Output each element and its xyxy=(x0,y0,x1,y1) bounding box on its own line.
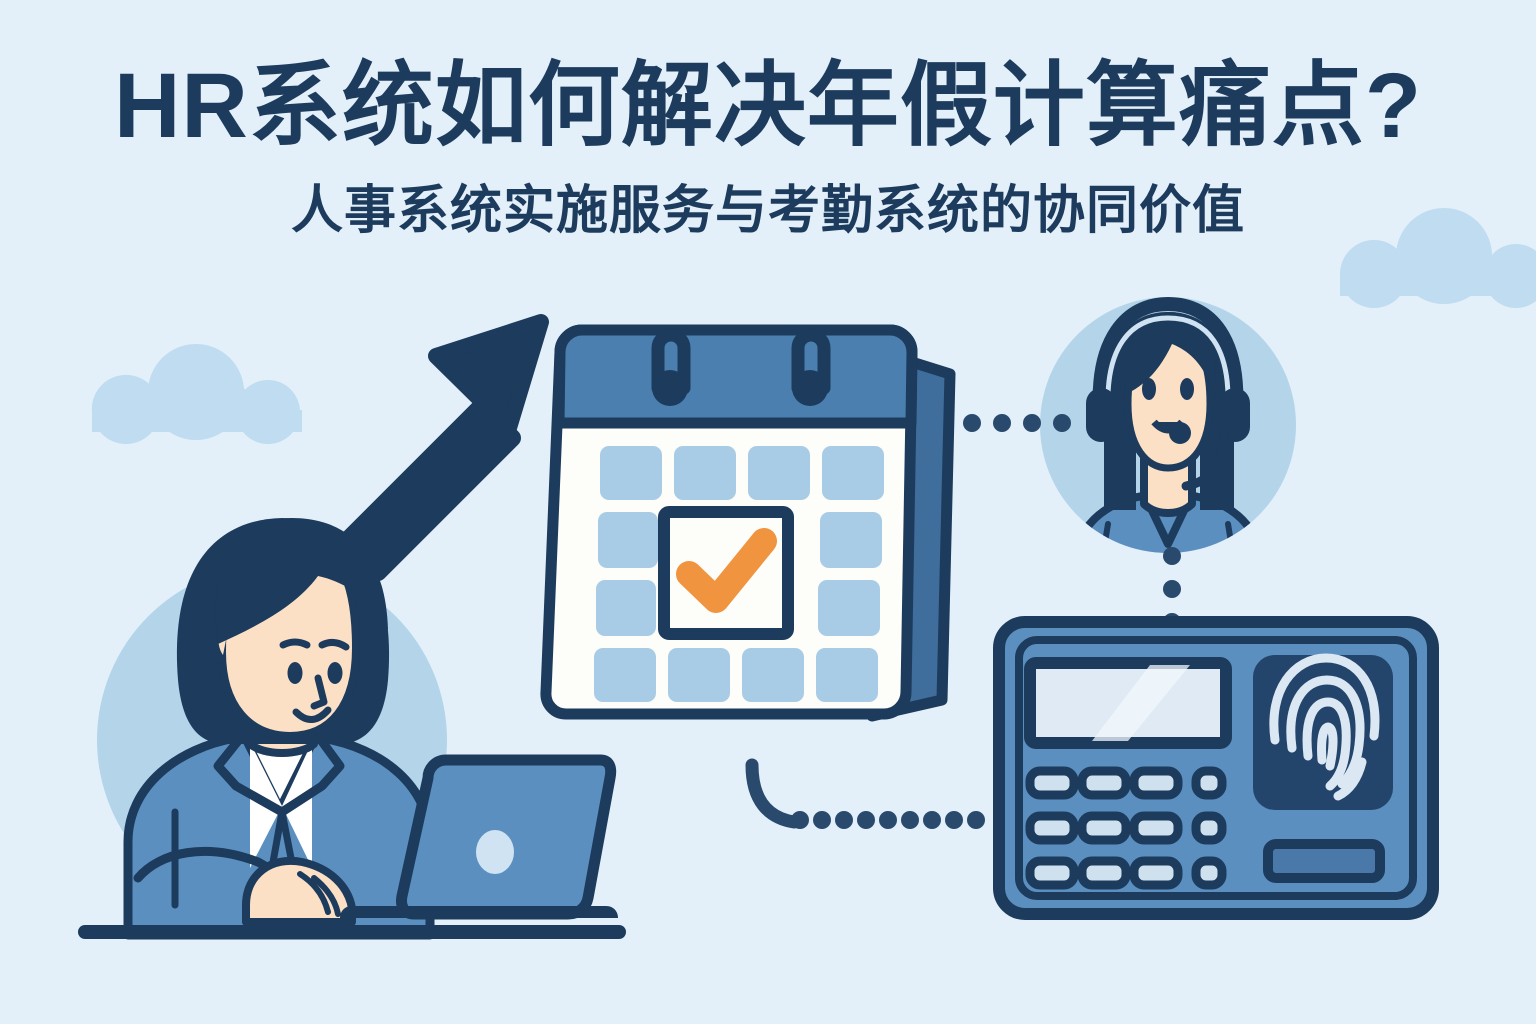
headset-earcup-left-icon xyxy=(1086,388,1116,442)
calendar-cell xyxy=(594,648,656,702)
keypad-key xyxy=(1030,861,1074,885)
laptop-logo xyxy=(476,830,514,874)
worker-brow-left xyxy=(283,642,307,645)
terminal-card-slot xyxy=(1268,844,1380,878)
calendar-cell xyxy=(600,446,662,500)
headset-mic-tip-icon xyxy=(1169,422,1191,444)
attendance-clock-terminal xyxy=(999,622,1433,914)
calendar-cell xyxy=(598,512,658,568)
annual-leave-calendar xyxy=(546,330,950,716)
keypad-key xyxy=(1030,771,1074,795)
keypad-key xyxy=(1196,771,1222,795)
calendar-cell xyxy=(674,446,736,500)
keypad-key xyxy=(1134,861,1178,885)
calendar-cell xyxy=(816,648,878,702)
terminal-keypad xyxy=(1030,771,1222,885)
calendar-cell xyxy=(820,512,882,568)
calendar-cell xyxy=(742,648,804,702)
laptop-base xyxy=(340,906,618,918)
calendar-cell xyxy=(668,648,730,702)
worker-eye-left xyxy=(288,662,303,684)
keypad-key xyxy=(1134,816,1178,840)
desk-line xyxy=(78,925,626,939)
agent-eye-right xyxy=(1180,378,1194,400)
worker-eye-right xyxy=(328,662,343,684)
keypad-key xyxy=(1030,816,1074,840)
page-subtitle: 人事系统实施服务与考勤系统的协同价值 xyxy=(0,185,1536,237)
page-subtitle-wrap: 人事系统实施服务与考勤系统的协同价值 xyxy=(0,185,1536,237)
keypad-key xyxy=(1082,861,1126,885)
calendar-cell xyxy=(596,580,656,636)
keypad-key xyxy=(1196,816,1222,840)
keypad-key xyxy=(1196,861,1222,885)
calendar-cell xyxy=(822,446,884,500)
agent-eye-left xyxy=(1142,378,1156,400)
page-title: HR系统如何解决年假计算痛点? xyxy=(0,60,1536,152)
illustration-canvas: HR系统如何解决年假计算痛点? 人事系统实施服务与考勤系统的协同价值 xyxy=(0,0,1536,1024)
keypad-key xyxy=(1134,771,1178,795)
keypad-key xyxy=(1082,816,1126,840)
keypad-key xyxy=(1082,771,1126,795)
calendar-header-band xyxy=(559,330,912,423)
calendar-cell xyxy=(818,580,880,636)
page-title-wrap: HR系统如何解决年假计算痛点? xyxy=(0,60,1536,152)
calendar-cell xyxy=(748,446,810,500)
